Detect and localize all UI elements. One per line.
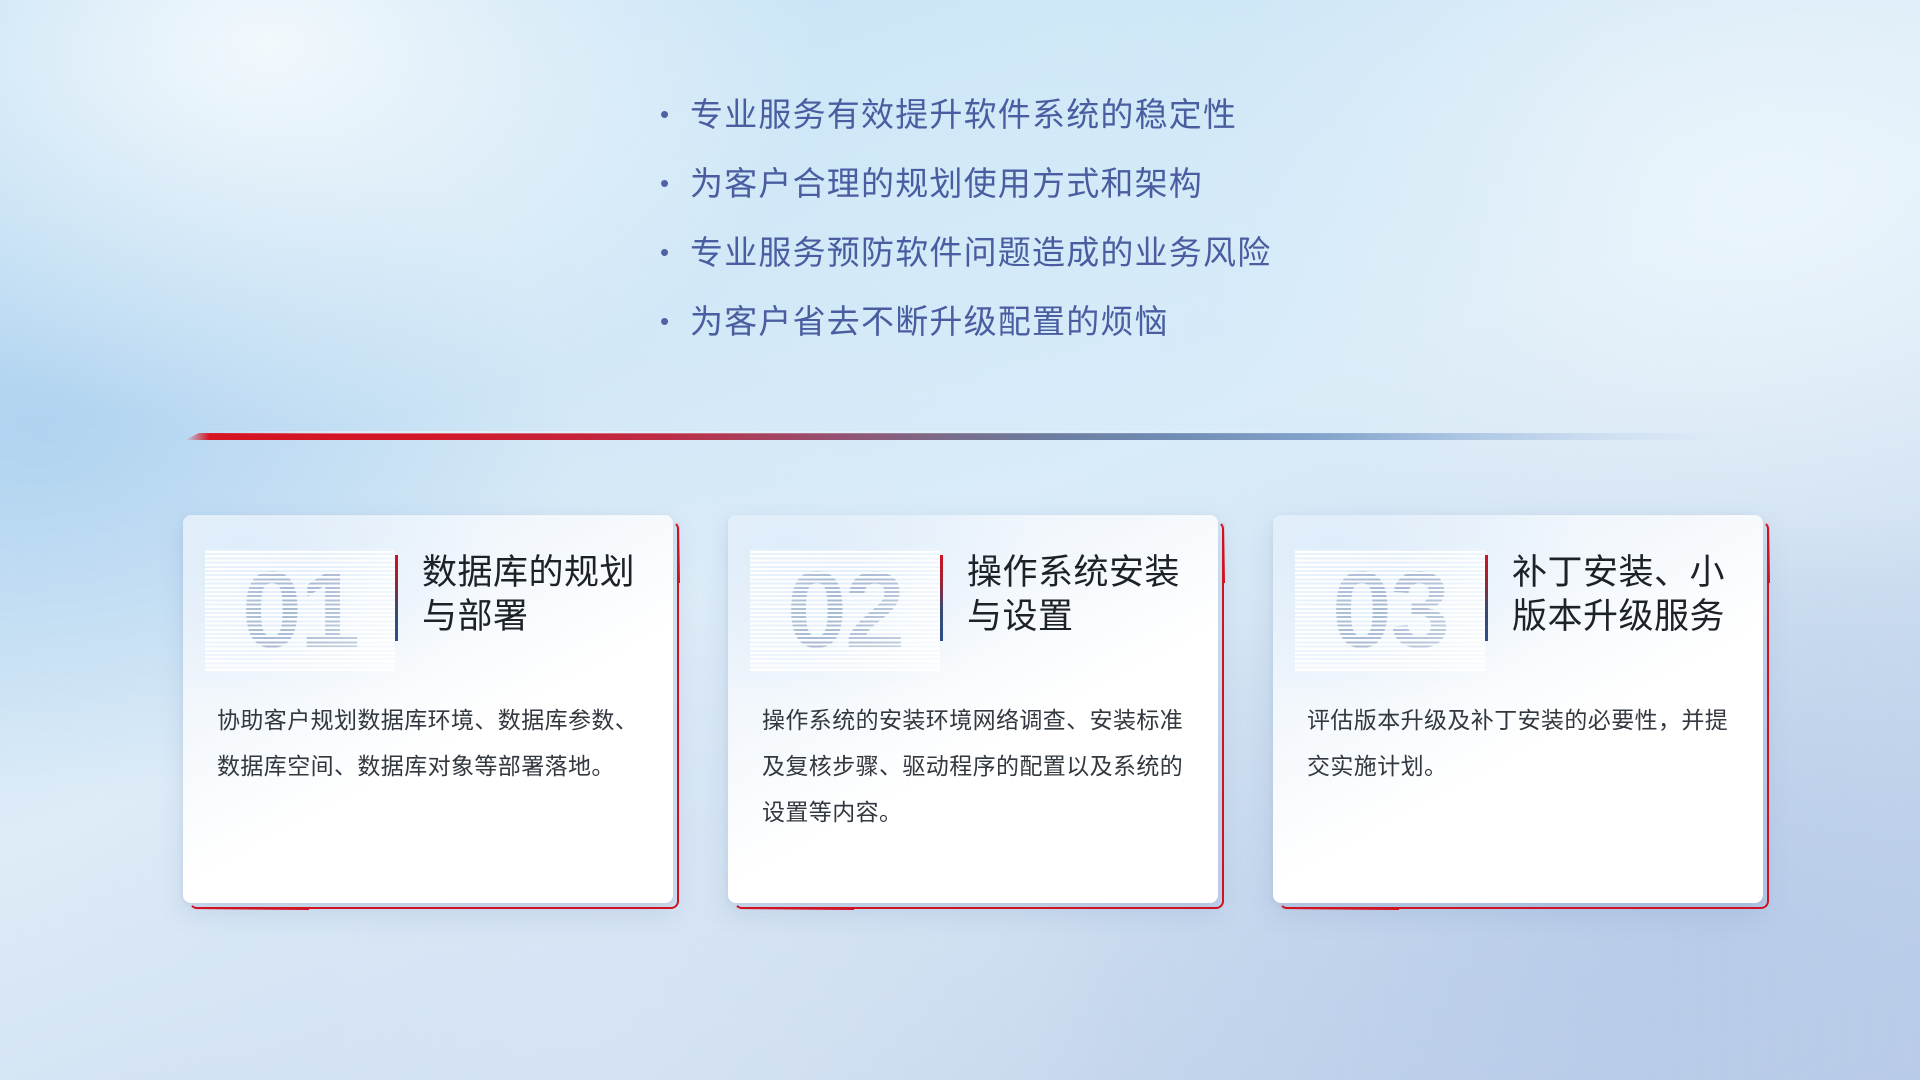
- benefits-bullet-list: • 专业服务有效提升软件系统的稳定性 • 为客户合理的规划使用方式和架构 • 专…: [660, 88, 1480, 364]
- bullet-dot-icon: •: [660, 170, 690, 196]
- bullet-dot-icon: •: [660, 308, 690, 334]
- card-number-text: 02: [750, 549, 940, 671]
- list-item: • 专业服务预防软件问题造成的业务风险: [660, 226, 1480, 274]
- card-number-watermark: 02: [750, 549, 940, 671]
- bullet-text: 专业服务预防软件问题造成的业务风险: [690, 226, 1271, 274]
- service-card-row: 01 数据库的规划与部署 协助客户规划数据库环境、数据库参数、数据库空间、数据库…: [183, 515, 1763, 915]
- card-title-accent-bar: [940, 555, 943, 641]
- card-description: 评估版本升级及补丁安装的必要性，并提交实施计划。: [1273, 683, 1763, 789]
- bullet-dot-icon: •: [660, 101, 690, 127]
- bullet-text: 专业服务有效提升软件系统的稳定性: [690, 88, 1237, 136]
- divider-highlight: [185, 431, 1725, 434]
- card-header: 02 操作系统安装与设置: [728, 515, 1218, 683]
- card-title: 补丁安装、小版本升级服务: [1512, 549, 1739, 639]
- card-title: 操作系统安装与设置: [967, 549, 1194, 639]
- service-card-03[interactable]: 03 补丁安装、小版本升级服务 评估版本升级及补丁安装的必要性，并提交实施计划。: [1273, 515, 1763, 903]
- section-divider: [185, 430, 1725, 442]
- card-header: 01 数据库的规划与部署: [183, 515, 673, 683]
- card-title: 数据库的规划与部署: [422, 549, 649, 639]
- service-card-02[interactable]: 02 操作系统安装与设置 操作系统的安装环境网络调查、安装标准及复核步骤、驱动程…: [728, 515, 1218, 903]
- list-item: • 为客户合理的规划使用方式和架构: [660, 157, 1480, 205]
- list-item: • 专业服务有效提升软件系统的稳定性: [660, 88, 1480, 136]
- bullet-text: 为客户合理的规划使用方式和架构: [690, 157, 1203, 205]
- card-number-watermark: 01: [205, 549, 395, 671]
- card-description: 协助客户规划数据库环境、数据库参数、数据库空间、数据库对象等部署落地。: [183, 683, 673, 789]
- bullet-text: 为客户省去不断升级配置的烦恼: [690, 295, 1169, 343]
- card-title-accent-bar: [395, 555, 398, 641]
- slide-canvas: • 专业服务有效提升软件系统的稳定性 • 为客户合理的规划使用方式和架构 • 专…: [0, 0, 1920, 1080]
- card-description: 操作系统的安装环境网络调查、安装标准及复核步骤、驱动程序的配置以及系统的设置等内…: [728, 683, 1218, 835]
- bullet-dot-icon: •: [660, 239, 690, 265]
- card-number-text: 01: [205, 549, 395, 671]
- card-number-text: 03: [1295, 549, 1485, 671]
- card-title-accent-bar: [1485, 555, 1488, 641]
- list-item: • 为客户省去不断升级配置的烦恼: [660, 295, 1480, 343]
- service-card-01[interactable]: 01 数据库的规划与部署 协助客户规划数据库环境、数据库参数、数据库空间、数据库…: [183, 515, 673, 903]
- divider-gradient-bar: [185, 433, 1725, 440]
- card-number-watermark: 03: [1295, 549, 1485, 671]
- card-header: 03 补丁安装、小版本升级服务: [1273, 515, 1763, 683]
